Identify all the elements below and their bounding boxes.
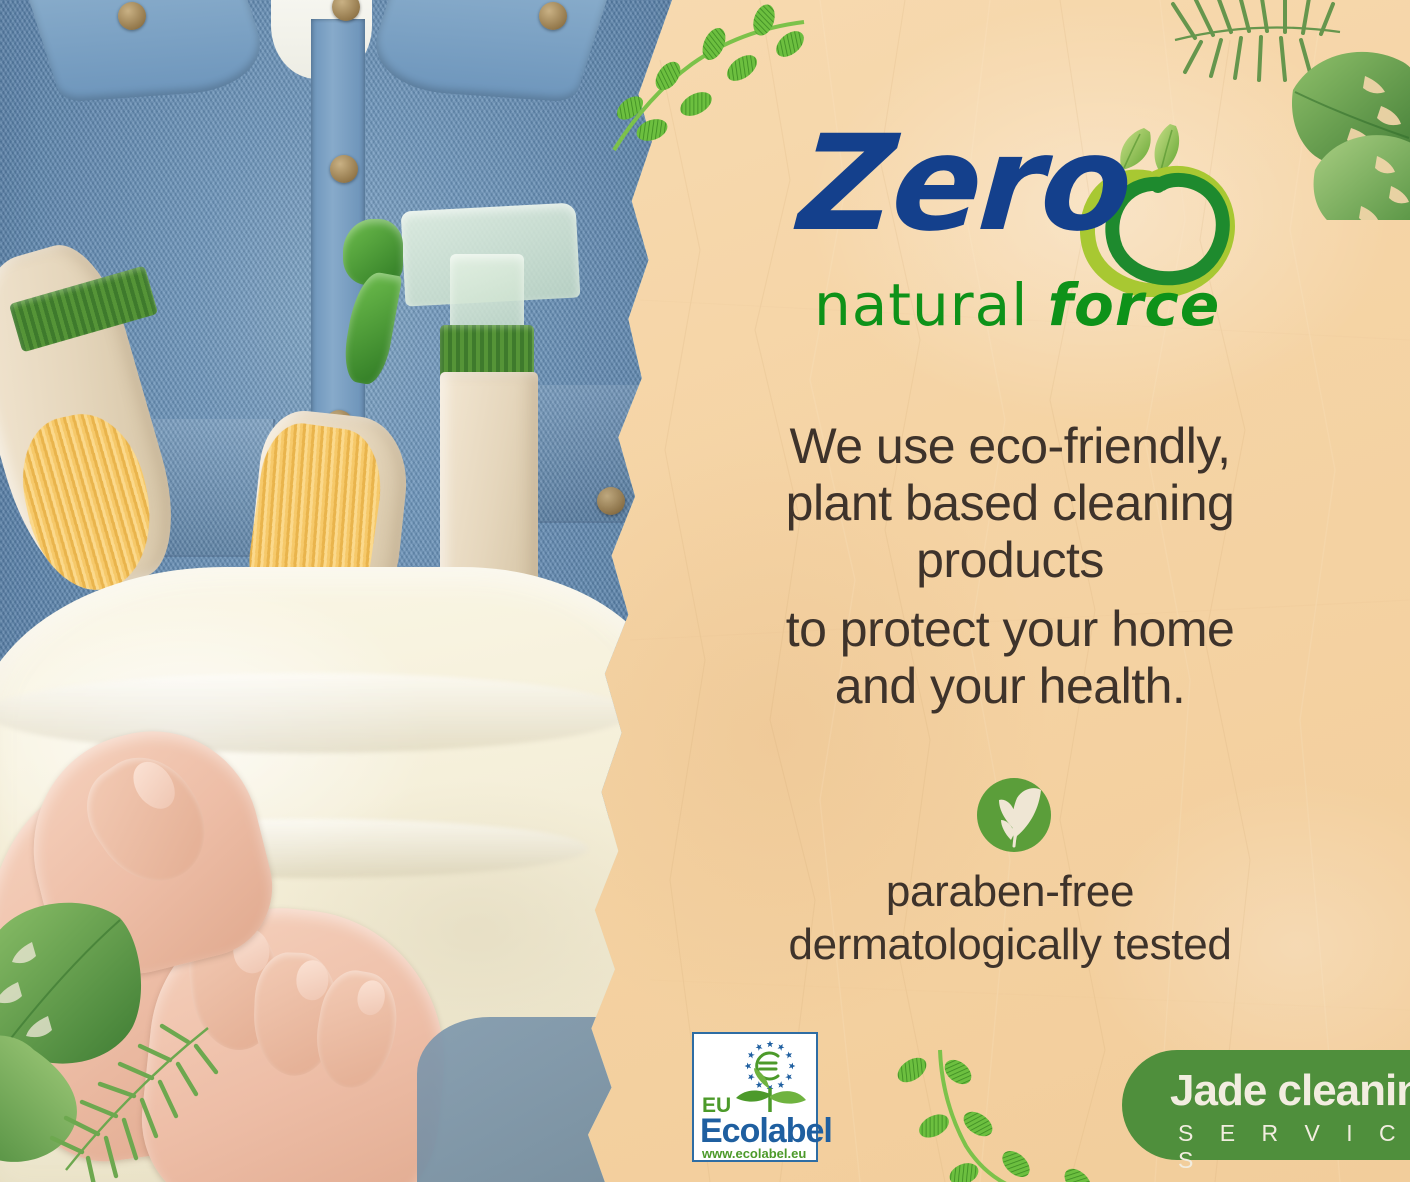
headline-line-1: We use eco-friendly, (700, 418, 1320, 475)
brand-logo: Zero natural force (800, 118, 1240, 338)
headline-block: We use eco-friendly, plant based cleanin… (700, 418, 1320, 715)
shirt-collar-button (539, 2, 567, 30)
logo-word: Zero (795, 118, 1133, 250)
subcopy-line-1: paraben-free (700, 866, 1320, 919)
shirt-collar-left (19, 0, 276, 103)
spray-bottle-body (440, 372, 537, 597)
shirt-collar-right (360, 0, 617, 103)
eu-ecolabel-badge: EU Ecolabel www.ecolabel.eu (692, 1032, 818, 1162)
subcopy-line-2: dermatologically tested (700, 919, 1320, 972)
fingernail (124, 754, 182, 816)
ecolabel-url-text: www.ecolabel.eu (702, 1146, 806, 1161)
jade-services: S E R V I C E S (1178, 1120, 1410, 1174)
headline-line-4: to protect your home (700, 601, 1320, 658)
hero-photo (0, 0, 672, 1182)
logo-tagline: natural force (814, 276, 1220, 334)
eu-flower-euro-stars-icon (722, 1038, 818, 1112)
leaf-sprout-icon (977, 778, 1051, 852)
headline-line-3: products (700, 532, 1320, 589)
fingernail (295, 960, 328, 1000)
jade-name: Jade cleaning (1170, 1066, 1410, 1116)
shirt-collar-button (118, 2, 146, 30)
poster-canvas: Zero natural force We use eco-friendly, … (0, 0, 1410, 1182)
leaf-badge (977, 778, 1051, 852)
jade-cleaning-logo: Jade cleaning S E R V I C E S (1122, 1050, 1410, 1160)
finger (68, 737, 227, 902)
fingernail (354, 979, 387, 1018)
headline-spacer (700, 589, 1320, 601)
logo-tagline-natural: natural (814, 271, 1048, 339)
subcopy-block: paraben-free dermatologically tested (700, 866, 1320, 972)
cloth-fold (0, 673, 630, 752)
headline-line-5: and your health. (700, 658, 1320, 715)
logo-tagline-force: force (1048, 271, 1220, 339)
spray-bottle-cap (440, 325, 534, 379)
headline-line-2: plant based cleaning (700, 475, 1320, 532)
